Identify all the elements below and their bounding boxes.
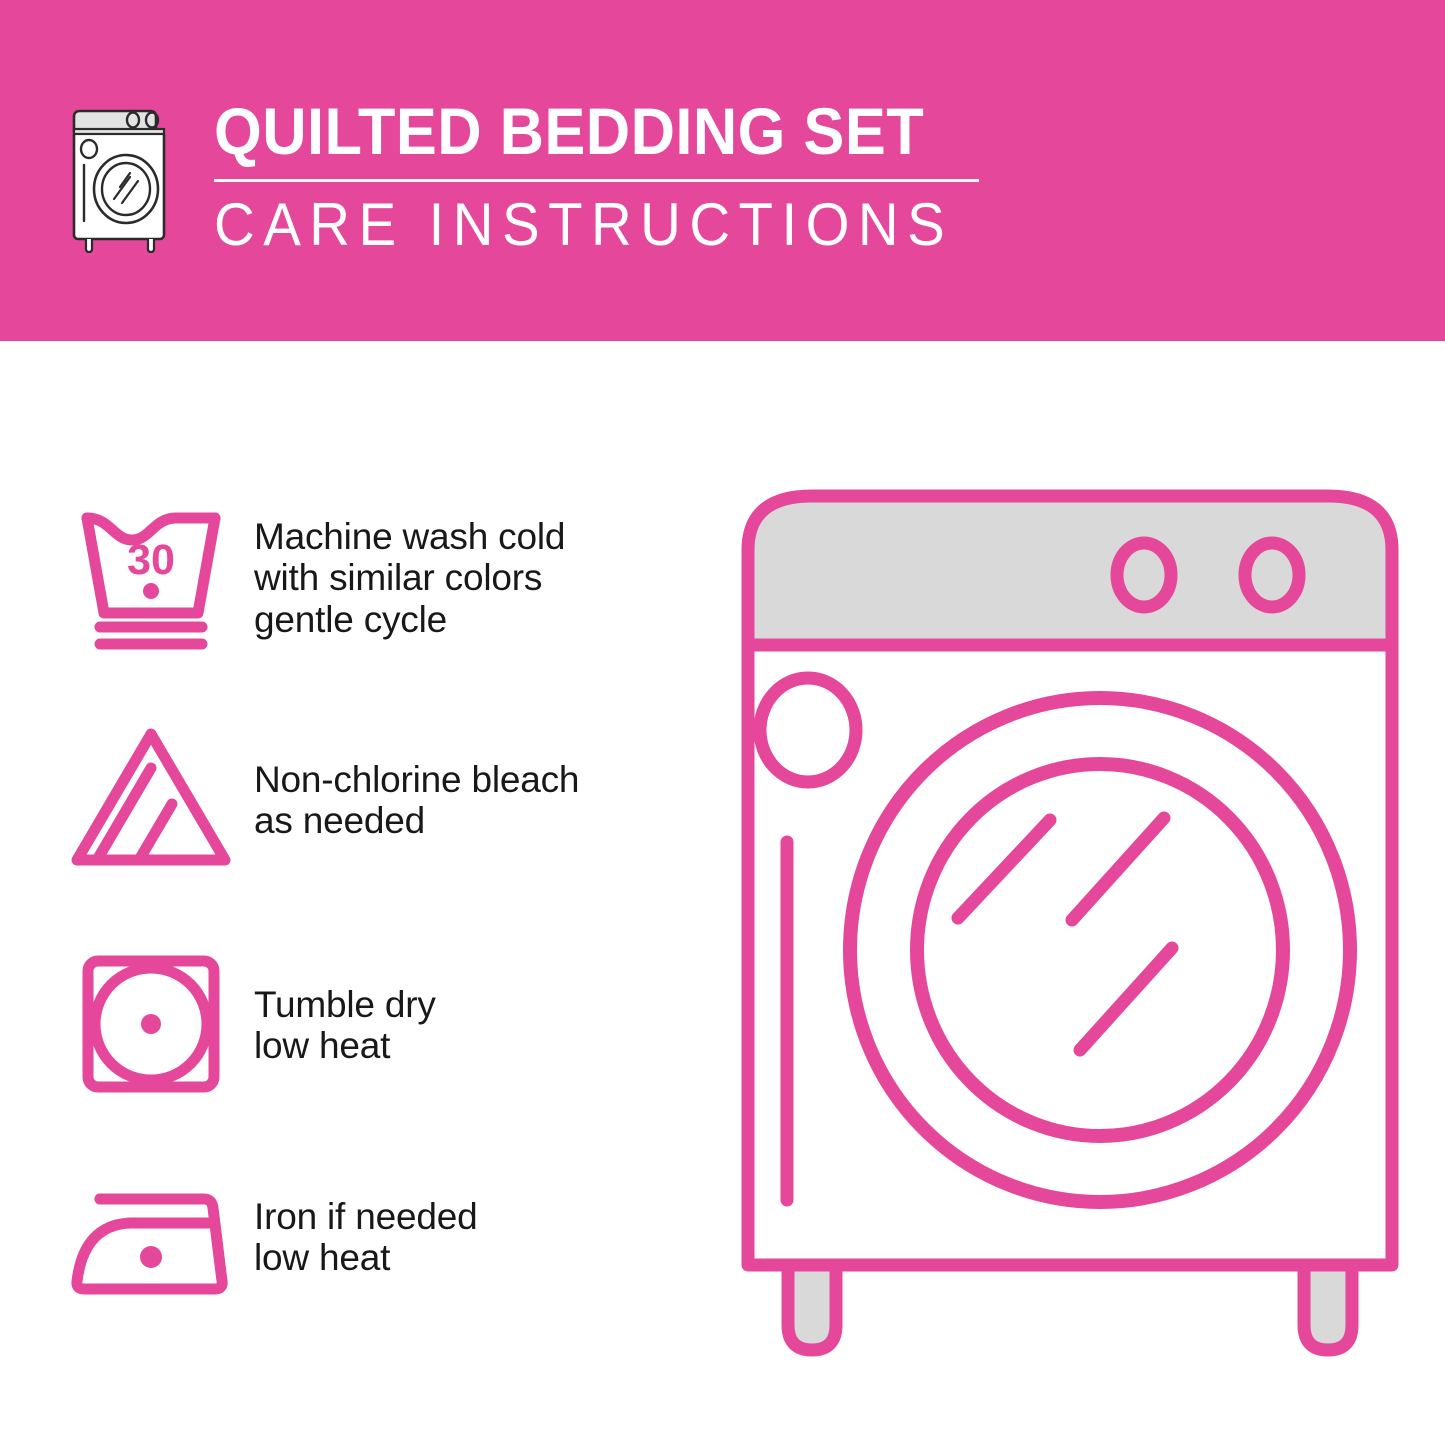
care-row-iron: Iron if needed low heat bbox=[62, 1153, 702, 1321]
wash-temperature-label: 30 bbox=[127, 536, 175, 584]
care-text-iron: Iron if needed low heat bbox=[254, 1196, 477, 1279]
wash-tub-30-gentle-icon: 30 bbox=[62, 494, 240, 662]
washing-machine-icon bbox=[60, 103, 186, 253]
care-text-tumble-dry: Tumble dry low heat bbox=[254, 984, 436, 1067]
page-title: QUILTED BEDDING SET bbox=[214, 97, 945, 165]
care-instructions-page: QUILTED BEDDING SET CARE INSTRUCTIONS 30 bbox=[0, 0, 1445, 1445]
non-chlorine-bleach-triangle-icon bbox=[62, 716, 240, 884]
care-text-machine-wash: Machine wash cold with similar colors ge… bbox=[254, 516, 565, 641]
page-subtitle: CARE INSTRUCTIONS bbox=[214, 194, 953, 256]
care-instruction-list: 30 Machine wash cold with similar colors… bbox=[0, 341, 700, 1445]
care-row-machine-wash: 30 Machine wash cold with similar colors… bbox=[62, 494, 702, 662]
washing-machine-illustration bbox=[720, 470, 1420, 1370]
care-row-tumble-dry: Tumble dry low heat bbox=[62, 941, 702, 1109]
header-divider bbox=[214, 179, 979, 182]
foot-right bbox=[1304, 1265, 1352, 1350]
care-text-bleach: Non-chlorine bleach as needed bbox=[254, 759, 579, 842]
iron-low-heat-icon bbox=[62, 1153, 240, 1321]
header-banner: QUILTED BEDDING SET CARE INSTRUCTIONS bbox=[0, 0, 1445, 341]
tumble-dry-low-icon bbox=[62, 941, 240, 1109]
header-text-block: QUILTED BEDDING SET CARE INSTRUCTIONS bbox=[214, 95, 1000, 256]
foot-left bbox=[788, 1265, 836, 1350]
header-content: QUILTED BEDDING SET CARE INSTRUCTIONS bbox=[60, 95, 1000, 256]
care-row-bleach: Non-chlorine bleach as needed bbox=[62, 716, 702, 884]
